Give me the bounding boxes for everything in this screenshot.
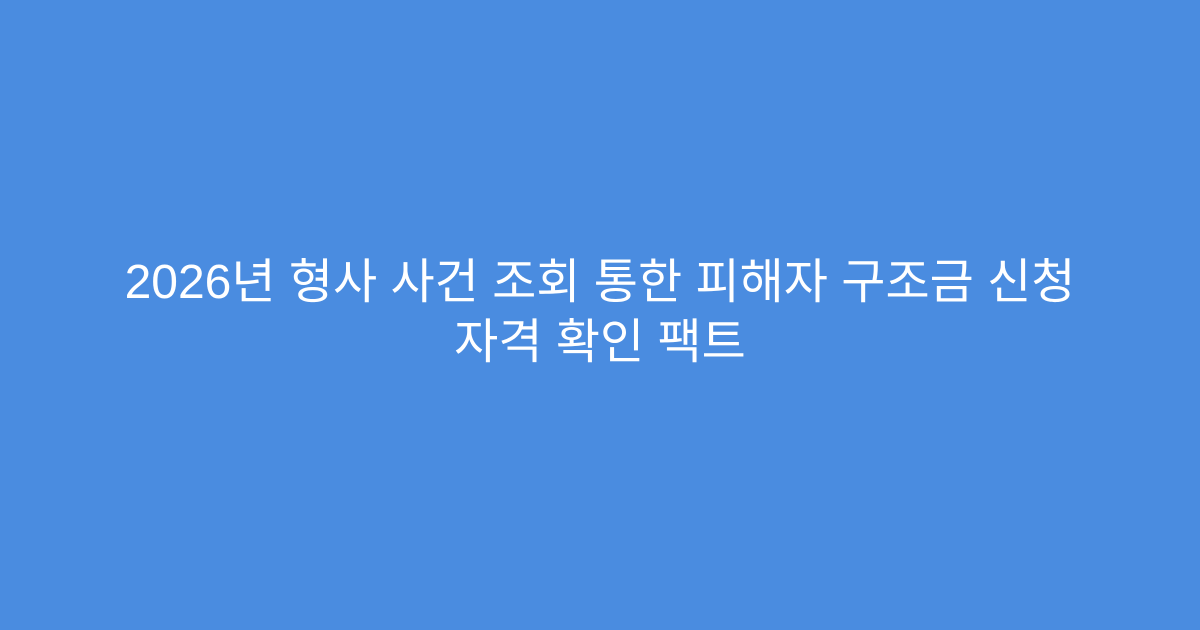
share-card: 2026년 형사 사건 조회 통한 피해자 구조금 신청 자격 확인 팩트	[0, 0, 1200, 630]
title-block: 2026년 형사 사건 조회 통한 피해자 구조금 신청 자격 확인 팩트	[80, 253, 1120, 373]
page-title: 2026년 형사 사건 조회 통한 피해자 구조금 신청 자격 확인 팩트	[80, 253, 1120, 373]
